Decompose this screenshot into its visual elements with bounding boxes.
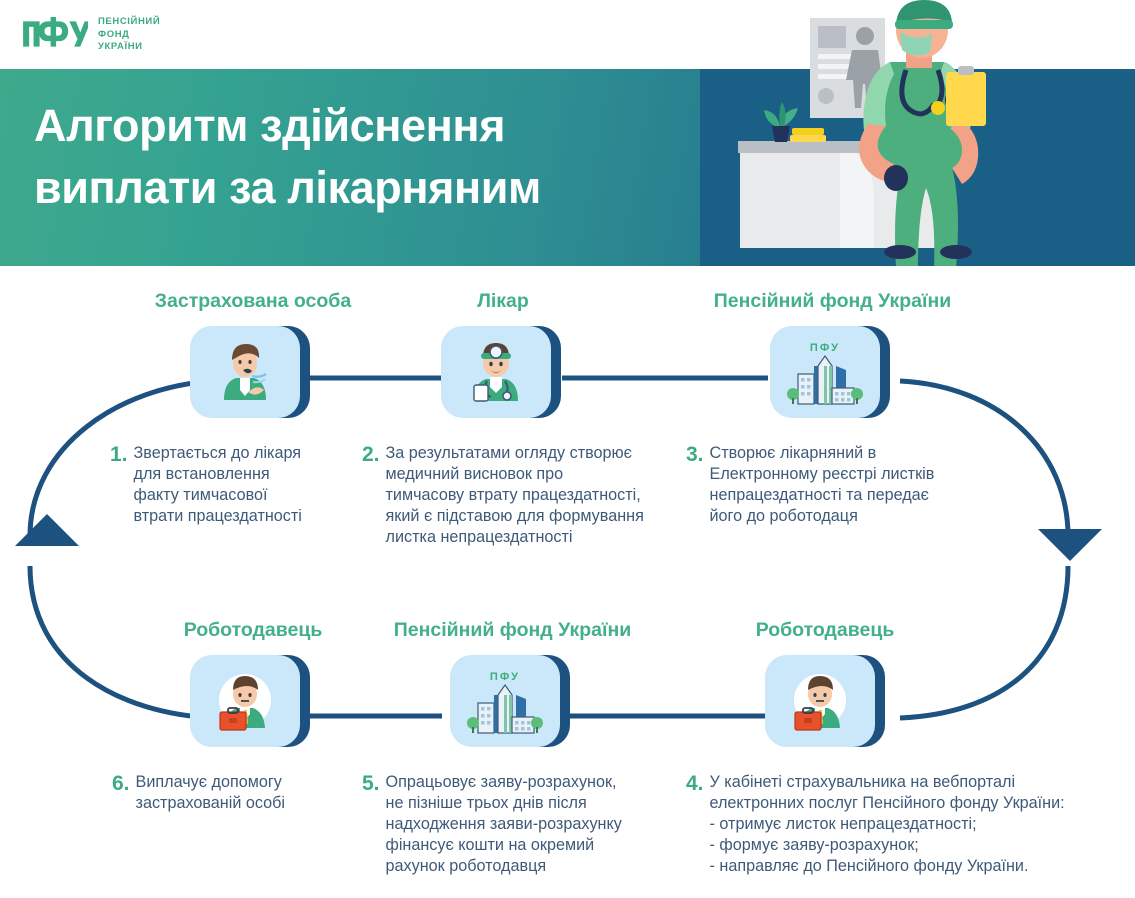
step-6: 6. Виплачує допомогу застрахованій особі (112, 772, 362, 814)
step-2-line-2: медичний висновок про (386, 464, 644, 485)
step-5-number: 5. (362, 772, 380, 797)
step-6-line-1: Виплачує допомогу (136, 772, 286, 793)
step-3-text: Створює лікарняний в Електронному реєстр… (710, 443, 935, 527)
node-3-title: Пенсійний фонд України (700, 292, 965, 312)
step-2-line-3: тимчасову втрату працездатності, (386, 485, 644, 506)
step-4-number: 4. (686, 772, 704, 797)
step-1-line-4: втрати працездатності (134, 506, 302, 527)
step-5-line-1: Опрацьовує заяву-розрахунок, (386, 772, 622, 793)
step-2-line-4: який є підставою для формування (386, 506, 644, 527)
step-5-line-2: не пізніше трьох днів після (386, 793, 622, 814)
pfu-logo-icon (22, 12, 88, 56)
step-2-line-5: листка непрацездатності (386, 527, 644, 548)
tile-face: ПФУ (450, 655, 560, 747)
step-5-text: Опрацьовує заяву-розрахунок, не пізніше … (386, 772, 622, 877)
step-1-line-2: для встановлення (134, 464, 302, 485)
step-2: 2. За результатами огляду створює медичн… (362, 443, 692, 548)
employer-with-briefcase-icon (212, 670, 278, 732)
node-5-title: Пенсійний фонд України (380, 621, 645, 641)
step-1-line-1: Звертається до лікаря (134, 443, 302, 464)
title-line-1: Алгоритм здійснення (34, 95, 694, 157)
node-4: Роботодавець (715, 621, 935, 747)
tile-face (765, 655, 875, 747)
page-title: Алгоритм здійснення виплати за лікарняни… (34, 95, 694, 219)
tile-face (190, 655, 300, 747)
step-3-line-4: його до роботодаця (710, 506, 935, 527)
step-2-line-1: За результатами огляду створює (386, 443, 644, 464)
arrow-down-icon (1038, 529, 1102, 561)
step-3-line-3: непрацездатності та передає (710, 485, 935, 506)
step-2-number: 2. (362, 443, 380, 468)
node-6-title: Роботодавець (143, 621, 363, 641)
doctor-icon (466, 341, 526, 403)
step-6-text: Виплачує допомогу застрахованій особі (136, 772, 286, 814)
step-4-line-3: - отримує листок непрацездатності; (710, 814, 1065, 835)
node-2-title: Лікар (433, 292, 573, 312)
step-3-number: 3. (686, 443, 704, 468)
tile-face (441, 326, 551, 418)
node-2: Лікар (433, 292, 573, 418)
logo-line-2: ФОНД (98, 29, 160, 42)
employer-with-briefcase-icon (787, 670, 853, 732)
node-1-title: Застрахована особа (143, 292, 363, 312)
node-2-tile[interactable] (441, 326, 561, 418)
step-6-line-2: застрахованій особі (136, 793, 286, 814)
infographic-page: ПЕНСІЙНИЙ ФОНД УКРАЇНИ (0, 0, 1135, 898)
node-4-tile[interactable] (765, 655, 885, 747)
step-1-line-3: факту тимчасової (134, 485, 302, 506)
step-3-line-1: Створює лікарняний в (710, 443, 935, 464)
step-5-line-4: фінансує кошти на окремий (386, 835, 622, 856)
title-line-2: виплати за лікарняним (34, 157, 694, 219)
step-4-line-4: - формує заяву-розрахунок; (710, 835, 1065, 856)
step-4-line-1: У кабінеті страхувальника на вебпорталі (710, 772, 1065, 793)
node-3-tile[interactable]: ПФУ (770, 326, 890, 418)
pfu-logo: ПЕНСІЙНИЙ ФОНД УКРАЇНИ (22, 12, 160, 56)
step-5-line-5: рахунок роботодавця (386, 856, 622, 877)
logo-line-1: ПЕНСІЙНИЙ (98, 16, 160, 29)
node-3: Пенсійний фонд України ПФУ (700, 292, 965, 418)
arrow-up-icon (15, 514, 79, 546)
step-4: 4. У кабінеті страхувальника на вебпорта… (686, 772, 1131, 877)
step-2-text: За результатами огляду створює медичний … (386, 443, 644, 548)
node-1-tile[interactable] (190, 326, 310, 418)
step-4-line-2: електронних послуг Пенсійного фонду Укра… (710, 793, 1065, 814)
step-3-line-2: Електронному реєстрі листків (710, 464, 935, 485)
step-3: 3. Створює лікарняний в Електронному реє… (686, 443, 1016, 527)
tile-face (190, 326, 300, 418)
step-6-number: 6. (112, 772, 130, 797)
step-5-line-3: надходження заяви-розрахунку (386, 814, 622, 835)
step-1: 1. Звертається до лікаря для встановленн… (110, 443, 360, 527)
header-illustration (700, 0, 1135, 266)
step-5: 5. Опрацьовує заяву-розрахунок, не пізні… (362, 772, 692, 877)
pfu-logo-text: ПЕНСІЙНИЙ ФОНД УКРАЇНИ (98, 14, 160, 54)
city-buildings-icon (466, 681, 544, 737)
coughing-person-icon (216, 342, 274, 402)
step-1-number: 1. (110, 443, 128, 468)
tile-face: ПФУ (770, 326, 880, 418)
node-5-tile[interactable]: ПФУ (450, 655, 570, 747)
step-4-text: У кабінеті страхувальника на вебпорталі … (710, 772, 1065, 877)
node-1: Застрахована особа (143, 292, 363, 418)
city-buildings-icon (786, 352, 864, 408)
node-6: Роботодавець (143, 621, 363, 747)
step-4-line-5: - направляє до Пенсійного фонду України. (710, 856, 1065, 877)
node-5: Пенсійний фонд України ПФУ (380, 621, 645, 747)
node-4-title: Роботодавець (715, 621, 935, 641)
logo-line-3: УКРАЇНИ (98, 41, 160, 54)
node-6-tile[interactable] (190, 655, 310, 747)
step-1-text: Звертається до лікаря для встановлення ф… (134, 443, 302, 527)
